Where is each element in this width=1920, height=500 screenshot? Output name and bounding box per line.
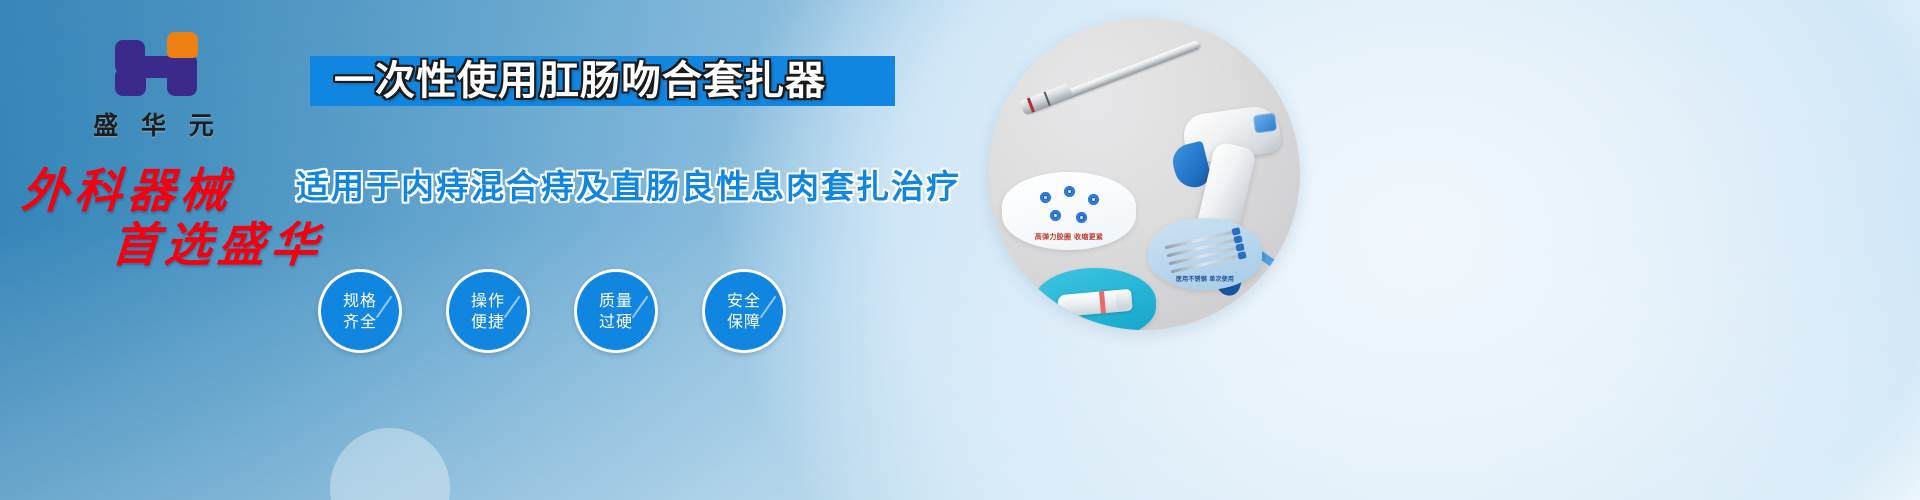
shenghuayuan-logo-icon [111,26,203,100]
elastic-ring-icon [1088,194,1099,205]
decorative-bubble [330,428,450,500]
badge-label-line1: 安全 [727,290,761,311]
elastic-ring-icon [1040,192,1051,203]
badge-label-line1: 规格 [343,290,377,311]
badge-label-line2: 齐全 [343,311,377,332]
feature-badge-operation[interactable]: 操作 便捷 [446,269,530,353]
badge-label-line1: 操作 [471,290,505,311]
needles-caption: 医用不锈钢 单次使用 [1148,274,1262,283]
slash-decoration-icon [760,296,777,318]
device-tip [1019,83,1073,116]
needle-icon [1171,254,1244,274]
logo-shape-d [167,54,197,96]
badge-label-line2: 过硬 [599,311,633,332]
elastic-ring-icon [1050,210,1061,221]
logo-shape-accent [167,32,198,58]
elastic-ring-icon [1076,212,1087,223]
elastic-rings-caption: 高弹力胶圈 收缩更紧 [1002,232,1136,242]
promo-banner: 盛 华 元 外科器械 首选盛华 一次性使用肛肠吻合套扎器 适用于内痔混合痔及直肠… [0,0,1920,500]
slogan-line-2: 首选盛华 [110,206,327,275]
page-title: 一次性使用肛肠吻合套扎器 [334,56,826,106]
feature-badge-quality[interactable]: 质量 过硬 [574,269,658,353]
subtitle: 适用于内痔混合痔及直肠良性息肉套扎治疗 [296,160,961,208]
slash-decoration-icon [504,296,521,318]
product-photo: 高弹力胶圈 收缩更紧 医用不锈钢 单次使用 [988,18,1300,330]
badge-label-line2: 保障 [727,311,761,332]
feature-badge-safety[interactable]: 安全 保障 [702,269,786,353]
feature-badge-specs[interactable]: 规格 齐全 [318,269,402,353]
slash-decoration-icon [376,296,393,318]
brand-name: 盛 华 元 [62,106,252,142]
badge-label-line1: 质量 [599,290,633,311]
feature-badge-list: 规格 齐全 操作 便捷 质量 过硬 安全 保障 [318,269,786,353]
elastic-ring-icon [1064,186,1075,197]
needles-inset: 医用不锈钢 单次使用 [1148,218,1262,290]
elastic-rings-inset: 高弹力胶圈 收缩更紧 [1002,172,1136,250]
anoscope-icon [1057,289,1133,317]
slash-decoration-icon [632,296,649,318]
anoscope-inset [1034,268,1156,330]
brand-logo[interactable]: 盛 华 元 [62,26,252,142]
badge-label-line2: 便捷 [471,311,505,332]
device-button [1253,113,1277,134]
